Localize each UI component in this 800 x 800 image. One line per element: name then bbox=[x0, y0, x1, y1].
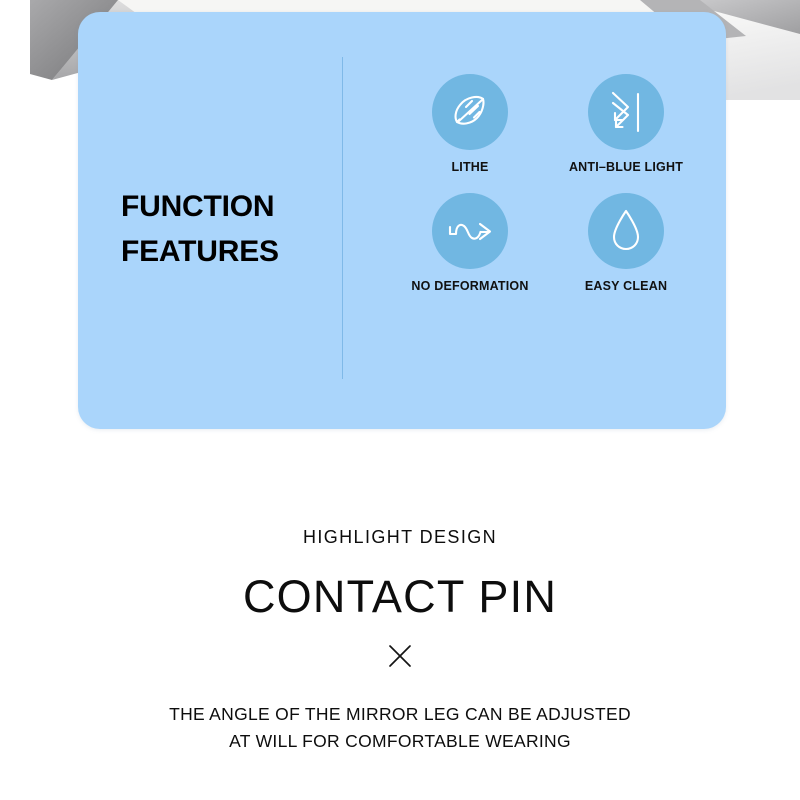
feature-card: FUNCTION FEATURES bbox=[78, 12, 726, 429]
feature-badge bbox=[432, 74, 508, 150]
card-heading: FUNCTION FEATURES bbox=[121, 184, 331, 274]
wavy-arrow-icon bbox=[447, 214, 493, 248]
feature-label: ANTI–BLUE LIGHT bbox=[569, 160, 683, 174]
x-mark-icon bbox=[0, 641, 800, 671]
feature-item-anti-blue-light[interactable]: ANTI–BLUE LIGHT bbox=[552, 74, 700, 174]
feature-label: LITHE bbox=[451, 160, 488, 174]
anti-blue-light-icon bbox=[604, 87, 648, 137]
headline-text: CONTACT PIN bbox=[0, 569, 800, 625]
card-heading-line-2: FEATURES bbox=[121, 229, 331, 274]
feature-item-no-deformation[interactable]: NO DEFORMATION bbox=[396, 193, 544, 293]
subcopy-line-2: AT WILL FOR COMFORTABLE WEARING bbox=[0, 728, 800, 755]
feature-item-easy-clean[interactable]: EASY CLEAN bbox=[552, 193, 700, 293]
feature-item-lithe[interactable]: LITHE bbox=[396, 74, 544, 174]
feature-grid: LITHE bbox=[396, 74, 700, 293]
feature-label: EASY CLEAN bbox=[585, 279, 667, 293]
feature-label: NO DEFORMATION bbox=[411, 279, 528, 293]
feature-badge bbox=[588, 193, 664, 269]
card-heading-line-1: FUNCTION bbox=[121, 184, 331, 229]
feather-icon bbox=[448, 90, 492, 134]
subcopy-line-1: THE ANGLE OF THE MIRROR LEG CAN BE ADJUS… bbox=[0, 701, 800, 728]
subcopy-text: THE ANGLE OF THE MIRROR LEG CAN BE ADJUS… bbox=[0, 701, 800, 755]
eyebrow-text: HIGHLIGHT DESIGN bbox=[0, 525, 800, 549]
lower-text-block: HIGHLIGHT DESIGN CONTACT PIN THE ANGLE O… bbox=[0, 525, 800, 755]
page-root: FUNCTION FEATURES bbox=[0, 0, 800, 800]
feature-badge bbox=[588, 74, 664, 150]
card-divider bbox=[342, 57, 343, 379]
feature-badge bbox=[432, 193, 508, 269]
water-drop-icon bbox=[609, 208, 643, 254]
